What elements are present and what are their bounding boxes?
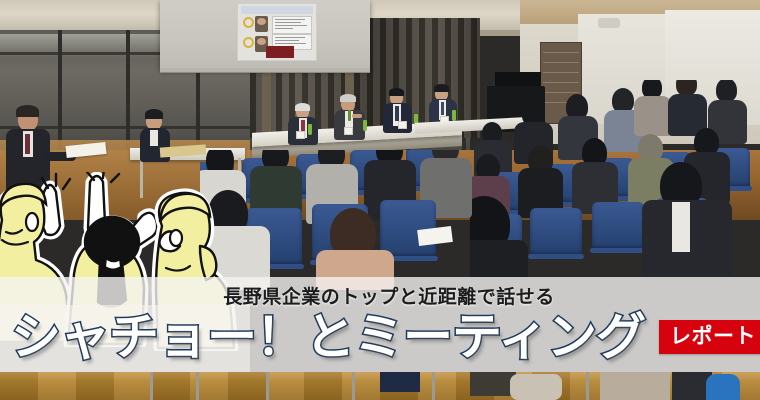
drink-bottle [308, 124, 312, 135]
paper-cup [296, 131, 305, 139]
paper-cup [398, 121, 407, 129]
attendee-legs [706, 374, 740, 400]
attendee-shirt [672, 202, 690, 252]
attendee-legs [600, 372, 670, 400]
drink-bottle [363, 120, 367, 131]
banner-title-row: シャチョー！とミーティング レポート [0, 306, 760, 368]
attendee-body [634, 96, 672, 136]
chair-leg [432, 372, 435, 400]
presentation-slide [237, 3, 317, 61]
attendee-head [716, 80, 737, 102]
paper-cup [344, 127, 353, 135]
chair-leg [352, 372, 355, 400]
projector-screen-bar [160, 68, 370, 73]
report-badge[interactable]: レポート [659, 320, 760, 354]
drink-bottle [452, 110, 456, 121]
banner-title: シャチョー！とミーティング [11, 312, 645, 362]
attendee-legs [380, 372, 420, 392]
banner-subtitle: 長野県企業のトップと近距離で話せる [0, 282, 760, 309]
event-banner: 長野県企業のトップと近距離で話せる シャチョー！とミーティング レポート [0, 0, 760, 400]
chair-leg [266, 372, 269, 400]
audience-chair [592, 202, 644, 250]
wall-fixture [598, 18, 620, 28]
handout-paper [417, 226, 453, 246]
chair-leg [586, 372, 589, 400]
attendee-legs [510, 374, 562, 400]
